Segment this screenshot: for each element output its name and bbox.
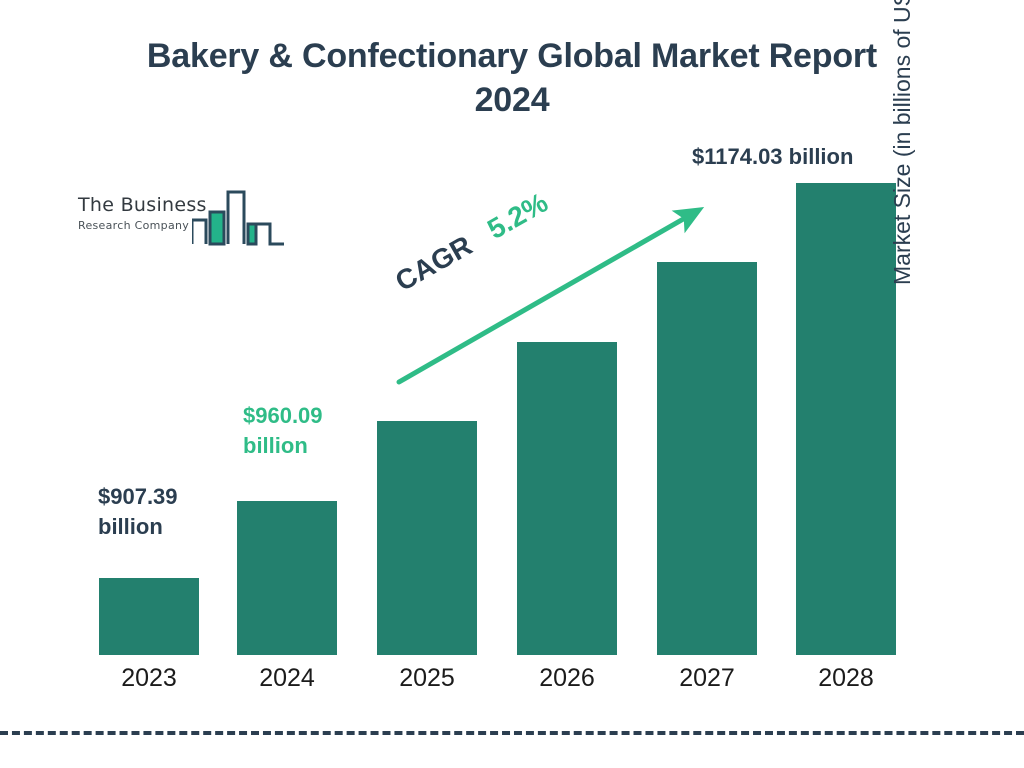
- bar-2023: [99, 578, 199, 655]
- value-label-2028: $1174.03 billion: [692, 142, 853, 172]
- x-tick-2025: 2025: [377, 664, 477, 693]
- x-tick-2028: 2028: [796, 664, 896, 693]
- footer-divider: [0, 731, 1024, 735]
- x-tick-2023: 2023: [99, 664, 199, 693]
- value-label-2023: $907.39 billion: [98, 482, 178, 541]
- growth-arrow-icon: [380, 190, 720, 400]
- bar-2025: [377, 421, 477, 655]
- value-label-2024: $960.09 billion: [243, 401, 323, 460]
- bar-2024: [237, 501, 337, 655]
- bar-2028: [796, 183, 896, 655]
- x-tick-2024: 2024: [237, 664, 337, 693]
- chart-canvas: Bakery & Confectionary Global Market Rep…: [0, 0, 1024, 768]
- x-tick-2026: 2026: [517, 664, 617, 693]
- x-tick-2027: 2027: [657, 664, 757, 693]
- y-axis-title: Market Size (in billions of USD): [889, 0, 916, 285]
